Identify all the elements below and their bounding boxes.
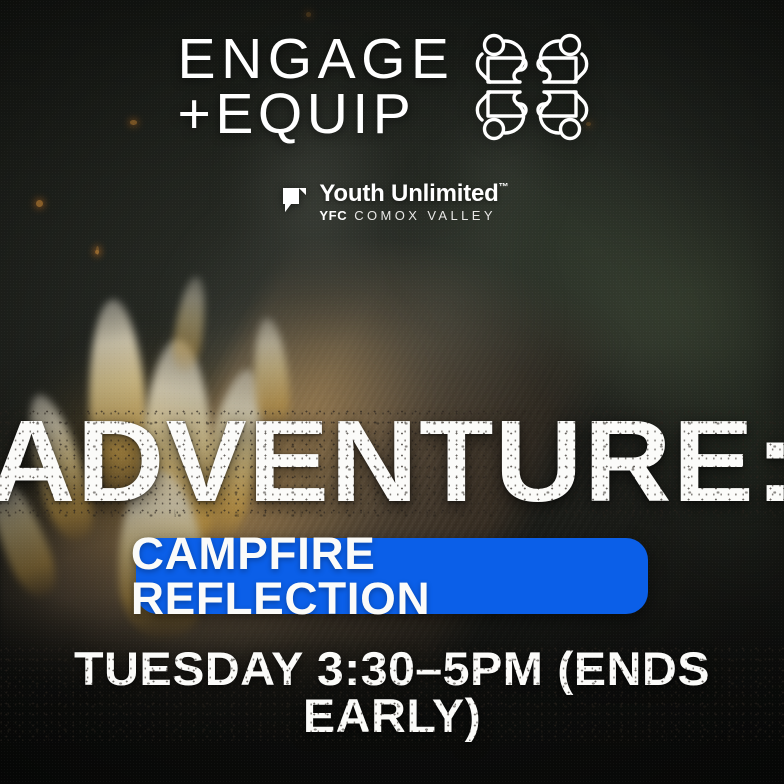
blue-pill: CAMPFIRE REFLECTION <box>136 538 648 614</box>
headline-text: ADVENTURE: <box>0 408 784 515</box>
session-title-banner: CAMPFIRE REFLECTION <box>0 538 784 614</box>
brand-line-equip: +EQUIP <box>178 87 416 142</box>
yfc-label: YFC <box>319 209 347 222</box>
poster-content: ENGAGE +EQUIP <box>0 0 784 784</box>
youth-unlimited-name: Youth Unlimited <box>319 182 498 206</box>
page-title: ADVENTURE: <box>0 408 784 515</box>
event-time: TUESDAY 3:30–5PM (ENDS EARLY) <box>0 645 784 739</box>
event-poster: ENGAGE +EQUIP <box>0 0 784 784</box>
brand-wordmark: ENGAGE +EQUIP <box>178 32 455 141</box>
region-label: COMOX VALLEY <box>354 209 496 222</box>
event-time-text: TUESDAY 3:30–5PM (ENDS EARLY) <box>0 645 784 739</box>
speech-bubble-icon <box>281 186 308 219</box>
trademark-symbol: ™ <box>499 183 509 193</box>
brand-line-engage: ENGAGE <box>178 32 455 87</box>
four-people-puzzle-icon <box>472 28 592 146</box>
session-title-text: CAMPFIRE REFLECTION <box>131 531 653 621</box>
youth-unlimited-lockup: Youth Unlimited ™ YFC COMOX VALLEY <box>0 182 784 222</box>
brand-lockup: ENGAGE +EQUIP <box>0 28 784 146</box>
